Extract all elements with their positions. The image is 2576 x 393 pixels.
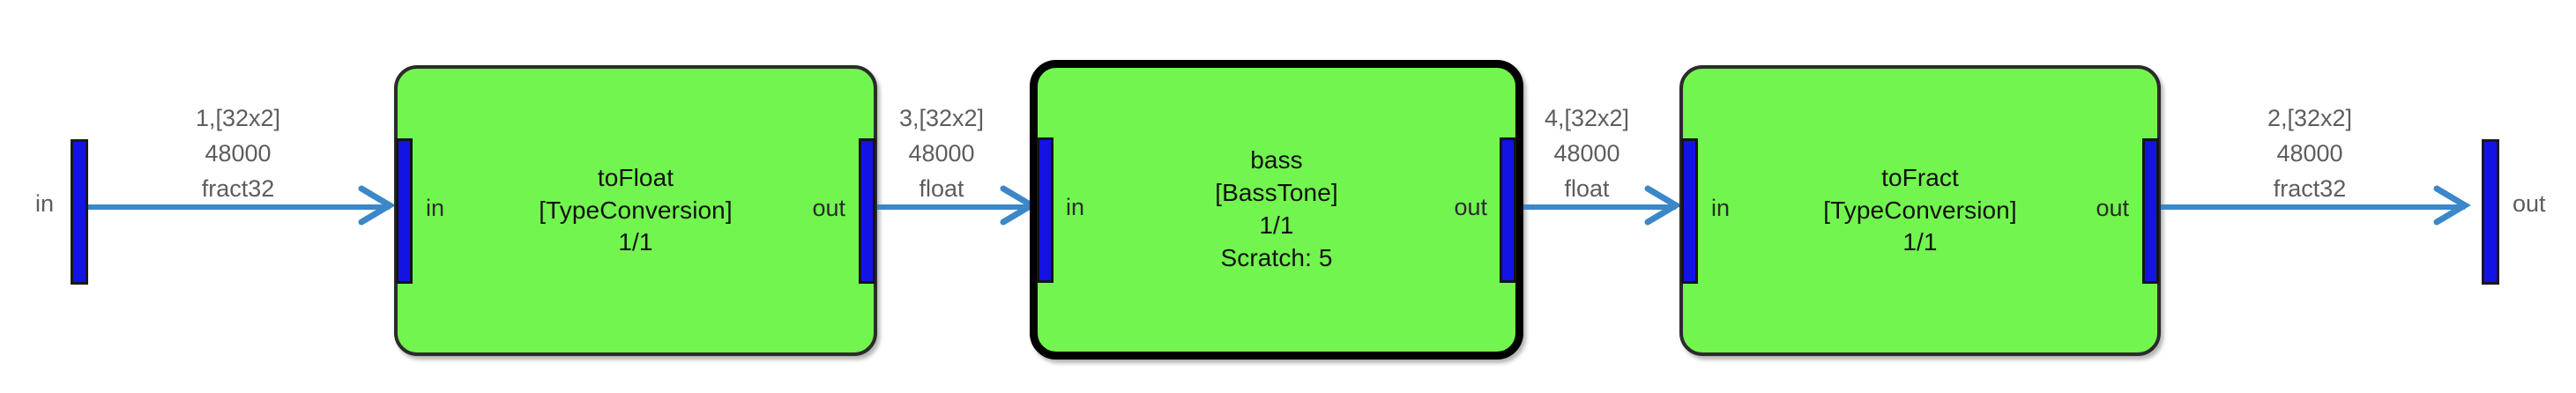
terminal-out-label: out [2513,192,2546,216]
block-bass-title: bass [BassTone] 1/1 Scratch: 5 [1215,145,1338,275]
terminal-in-port[interactable] [71,139,88,285]
block-bass-out-label: out [1454,196,1487,219]
block-tofloat[interactable]: in toFloat [TypeConversion] 1/1 out [394,65,877,356]
terminal-in-label: in [35,192,54,216]
block-bass[interactable]: in bass [BassTone] 1/1 Scratch: 5 out [1030,60,1523,360]
terminal-out-port[interactable] [2482,139,2499,285]
edge-4-label: 4,[32x2] 48000 float [1545,101,1629,207]
block-tofloat-title: toFloat [TypeConversion] 1/1 [539,162,733,260]
block-tofract-title: toFract [TypeConversion] 1/1 [1823,162,2017,260]
block-tofloat-out-port[interactable] [859,138,875,284]
edge-1-label: 1,[32x2] 48000 fract32 [196,101,280,207]
block-bass-out-port[interactable] [1500,137,1516,283]
block-tofloat-out-label: out [812,196,845,220]
block-bass-body: bass [BassTone] 1/1 Scratch: 5 [1038,68,1515,352]
block-tofract-out-label: out [2096,196,2129,220]
diagram-canvas: in 1,[32x2] 48000 fract32 in toFloat [Ty… [0,0,2576,393]
block-tofloat-body: toFloat [TypeConversion] 1/1 [398,69,874,352]
block-tofract-out-port[interactable] [2142,138,2159,284]
block-tofract[interactable]: in toFract [TypeConversion] 1/1 out [1679,65,2161,356]
block-tofract-body: toFract [TypeConversion] 1/1 [1683,69,2157,352]
edge-3-label: 3,[32x2] 48000 float [899,101,984,207]
edge-2-label: 2,[32x2] 48000 fract32 [2267,101,2352,207]
